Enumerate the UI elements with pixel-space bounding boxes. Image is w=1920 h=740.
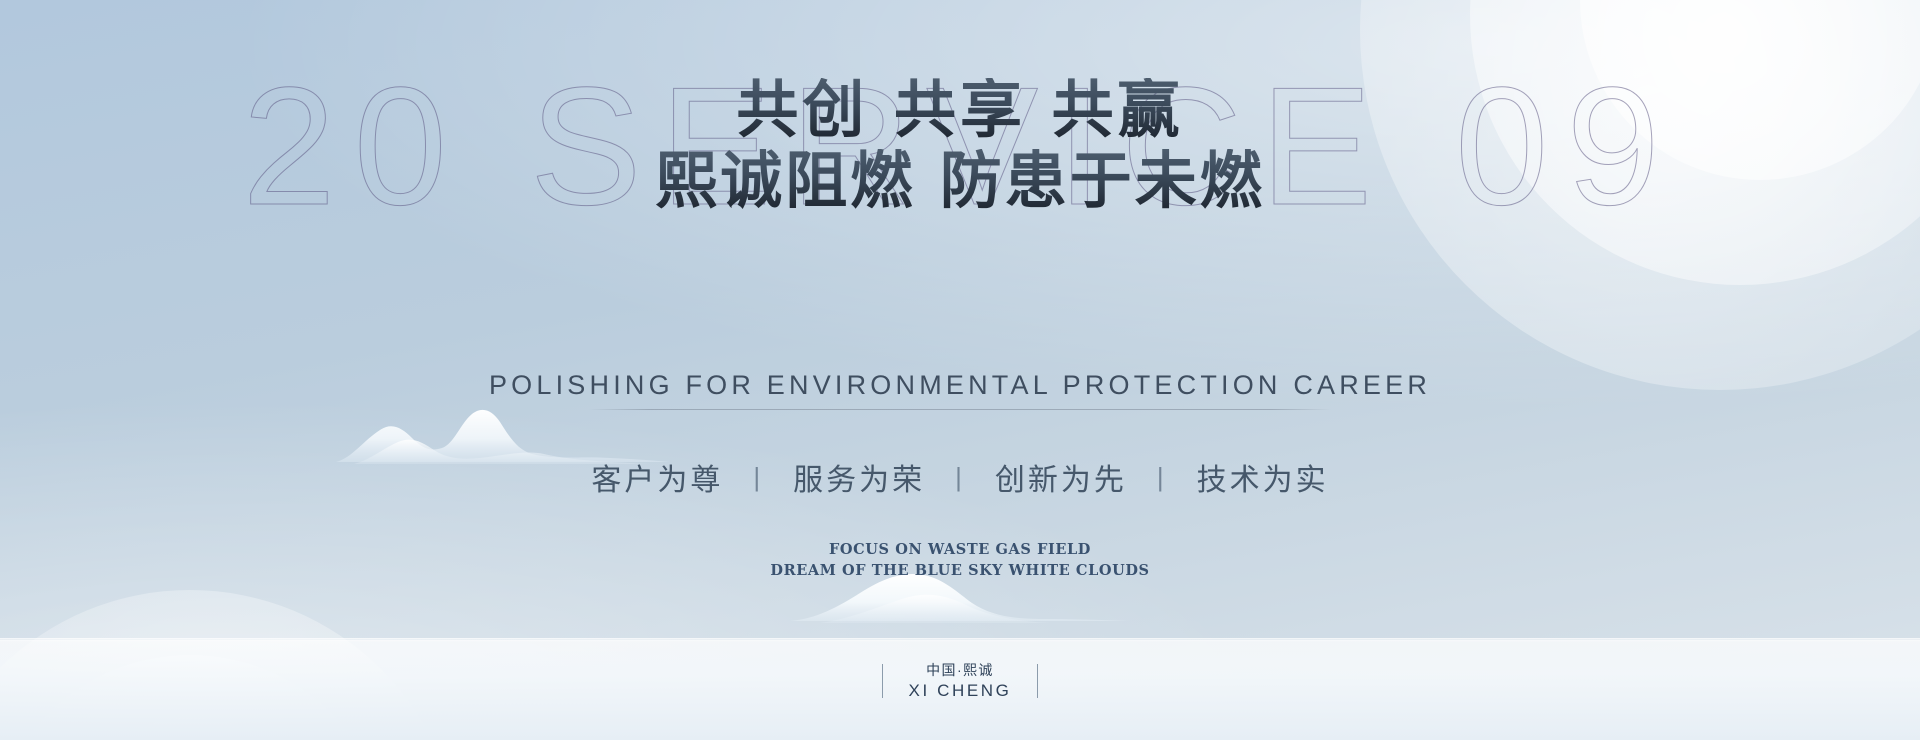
value-separator-2: | [951,462,969,493]
value-item-2: 服务为荣 [767,455,951,499]
tagline-underline [589,409,1331,410]
value-item-4: 技术为实 [1171,455,1355,499]
footer-brand-cn: 中国·熙诚 [926,662,994,678]
value-separator-1: | [749,462,767,493]
headline-block: 共创 共享 共赢 熙诚阻燃 防患于未燃 [0,78,1920,212]
serif-subtitle-line-1: FOCUS ON WASTE GAS FIELD [0,540,1920,561]
value-item-3: 创新为先 [969,455,1153,499]
footer-brand-en: XI CHENG [909,681,1012,700]
english-tagline: POLISHING FOR ENVIRONMENTAL PROTECTION C… [0,370,1920,401]
value-separator-3: | [1153,462,1171,493]
headline-line-2: 熙诚阻燃 防患于未燃 [0,149,1920,212]
values-row: 客户为尊 | 服务为荣 | 创新为先 | 技术为实 [0,455,1920,499]
footer-divider-left [882,664,883,698]
footer-brand: 中国·熙诚 XI CHENG [909,660,1012,702]
footer-divider-right [1037,664,1038,698]
headline-line-1: 共创 共享 共赢 [0,78,1920,141]
hero-banner: 20 SERVICE 09 POLISHING FOR ENVIRONMENTA… [0,0,1920,740]
serif-subtitle-line-2: DREAM OF THE BLUE SKY WHITE CLOUDS [0,561,1920,582]
value-item-1: 客户为尊 [565,455,749,499]
serif-subtitle-block: FOCUS ON WASTE GAS FIELD DREAM OF THE BL… [0,540,1920,581]
footer-logo-lockup: 中国·熙诚 XI CHENG [0,660,1920,702]
